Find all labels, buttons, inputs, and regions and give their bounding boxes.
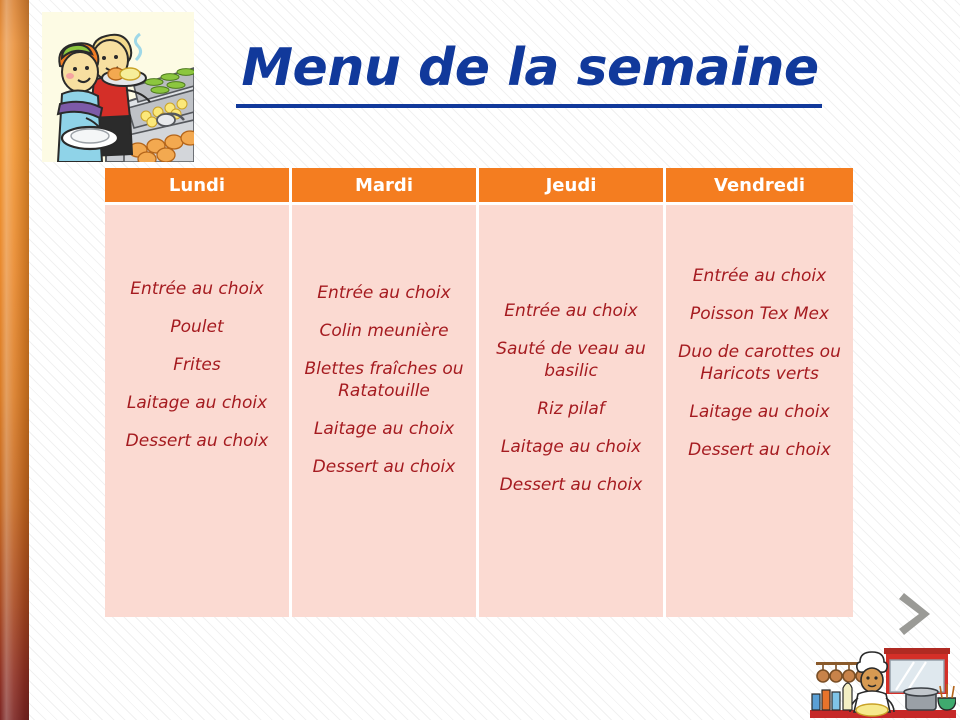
table-row: Entrée au choix Poulet Frites Laitage au… <box>105 205 853 617</box>
menu-item: Dessert au choix <box>485 474 657 496</box>
menu-item: Sauté de veau au basilic <box>485 338 657 382</box>
menu-cell-inner-vendredi: Entrée au choix Poisson Tex Mex Duo de c… <box>672 265 847 558</box>
left-accent-bar-sheen <box>0 0 29 720</box>
menu-item: Entrée au choix <box>298 282 470 304</box>
menu-item: Poulet <box>111 316 283 338</box>
menu-item: Entrée au choix <box>485 300 657 322</box>
page-title-underline <box>236 104 822 108</box>
chef-kitchen-clipart <box>810 642 956 720</box>
menu-item: Colin meunière <box>298 320 470 342</box>
menu-item: Dessert au choix <box>111 430 283 452</box>
menu-item: Laitage au choix <box>298 418 470 440</box>
school-canteen-clipart <box>42 12 194 162</box>
menu-item: Blettes fraîches ou Ratatouille <box>298 358 470 402</box>
menu-cell-jeudi: Entrée au choix Sauté de veau au basilic… <box>479 205 666 617</box>
menu-item: Frites <box>111 354 283 376</box>
left-accent-bar <box>0 0 29 720</box>
menu-item: Poisson Tex Mex <box>672 303 847 325</box>
menu-item: Duo de carottes ou Haricots verts <box>672 341 847 385</box>
slide-canvas: Menu de la semaine Lundi Mardi Jeudi Ven… <box>0 0 960 720</box>
column-header-lundi: Lundi <box>105 168 292 205</box>
chevron-right-icon <box>898 590 938 638</box>
menu-item: Entrée au choix <box>672 265 847 287</box>
menu-cell-inner-lundi: Entrée au choix Poulet Frites Laitage au… <box>111 278 283 544</box>
menu-item: Entrée au choix <box>111 278 283 300</box>
column-header-jeudi: Jeudi <box>479 168 666 205</box>
menu-item: Laitage au choix <box>111 392 283 414</box>
menu-item: Dessert au choix <box>298 456 470 478</box>
column-header-vendredi: Vendredi <box>666 168 853 205</box>
menu-item: Riz pilaf <box>485 398 657 420</box>
menu-item: Dessert au choix <box>672 439 847 461</box>
column-header-mardi: Mardi <box>292 168 479 205</box>
weekly-menu-table: Lundi Mardi Jeudi Vendredi Entrée au cho… <box>105 168 853 617</box>
page-title: Menu de la semaine <box>210 38 850 98</box>
table-header-row: Lundi Mardi Jeudi Vendredi <box>105 168 853 205</box>
menu-cell-mardi: Entrée au choix Colin meunière Blettes f… <box>292 205 479 617</box>
menu-cell-vendredi: Entrée au choix Poisson Tex Mex Duo de c… <box>666 205 853 617</box>
menu-item: Laitage au choix <box>485 436 657 458</box>
menu-cell-lundi: Entrée au choix Poulet Frites Laitage au… <box>105 205 292 617</box>
menu-cell-inner-mardi: Entrée au choix Colin meunière Blettes f… <box>298 282 470 541</box>
menu-cell-inner-jeudi: Entrée au choix Sauté de veau au basilic… <box>485 300 657 523</box>
menu-item: Laitage au choix <box>672 401 847 423</box>
